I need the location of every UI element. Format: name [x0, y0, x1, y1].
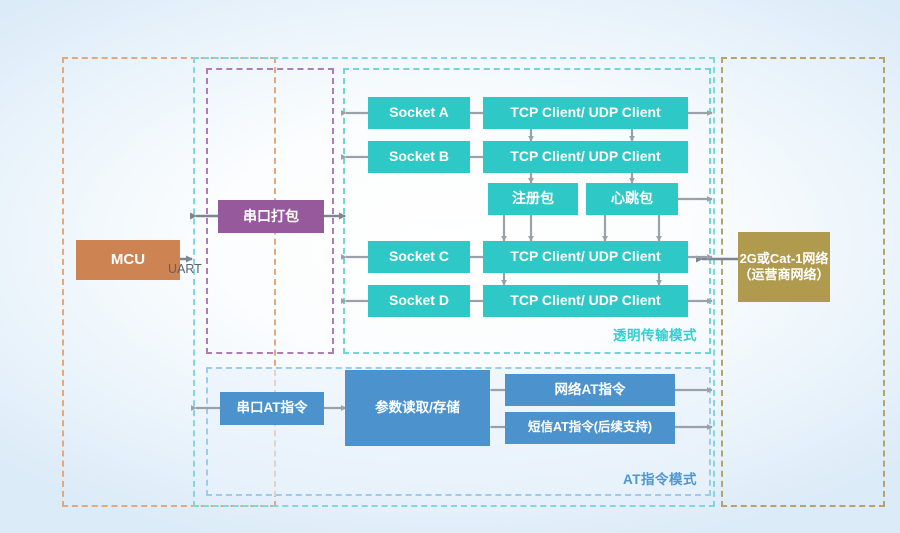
sms-at-command-box[interactable]: 短信AT指令(后续支持): [505, 412, 675, 444]
network-at-command-box[interactable]: 网络AT指令: [505, 374, 675, 406]
network-line-1: 2G或Cat-1网络: [740, 251, 829, 267]
serial-packing-box[interactable]: 串口打包: [218, 200, 324, 233]
diagram-canvas: 透明传输模式 AT指令模式: [0, 0, 900, 533]
register-packet-box[interactable]: 注册包: [488, 183, 578, 215]
socket-c-box[interactable]: Socket C: [368, 241, 470, 273]
tcp-udp-client-d-box[interactable]: TCP Client/ UDP Client: [483, 285, 688, 317]
socket-a-box[interactable]: Socket A: [368, 97, 470, 129]
heartbeat-packet-box[interactable]: 心跳包: [586, 183, 678, 215]
serial-at-command-box[interactable]: 串口AT指令: [220, 392, 324, 425]
tcp-udp-client-b-box[interactable]: TCP Client/ UDP Client: [483, 141, 688, 173]
socket-d-box[interactable]: Socket D: [368, 285, 470, 317]
uart-label: UART: [168, 262, 202, 276]
network-line-2: （运营商网络）: [738, 267, 829, 283]
tcp-udp-client-c-box[interactable]: TCP Client/ UDP Client: [483, 241, 688, 273]
param-read-store-box[interactable]: 参数读取/存储: [345, 370, 490, 446]
tcp-udp-client-a-box[interactable]: TCP Client/ UDP Client: [483, 97, 688, 129]
mcu-box[interactable]: MCU: [76, 240, 180, 280]
network-box[interactable]: 2G或Cat-1网络 （运营商网络）: [738, 232, 830, 302]
socket-b-box[interactable]: Socket B: [368, 141, 470, 173]
